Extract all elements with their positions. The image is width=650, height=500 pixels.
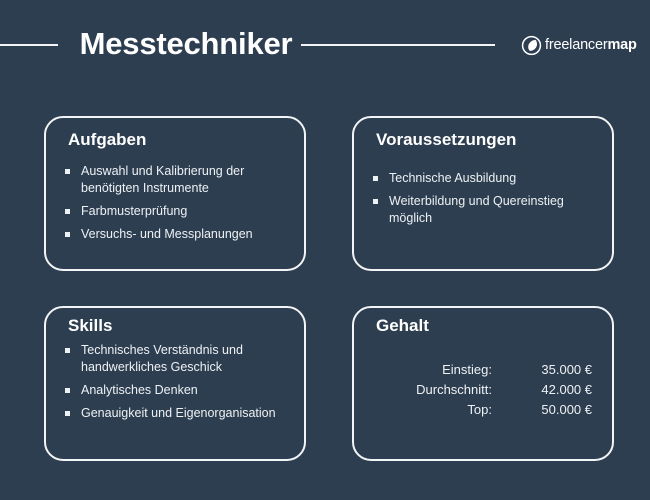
bullet-square-icon [65, 388, 70, 393]
list-item: Farbmusterprüfung [64, 203, 294, 220]
salary-value-einstieg: 35.000 € [492, 360, 592, 380]
freelancermap-logo[interactable]: freelancermap [521, 33, 637, 57]
table-row: Einstieg: 35.000 € [368, 360, 592, 380]
list-item: Genauigkeit und Eigenorganisation [64, 405, 294, 422]
page-header: Messtechniker freelancermap [0, 0, 650, 92]
list-item-label: Farbmusterprüfung [81, 204, 187, 218]
card-gehalt: Gehalt Einstieg: 35.000 € Durchschnitt: … [352, 306, 614, 461]
list-item-label: Technisches Verständnis und handwerklich… [81, 343, 243, 374]
salary-table: Einstieg: 35.000 € Durchschnitt: 42.000 … [368, 360, 592, 420]
card-title-aufgaben: Aufgaben [68, 130, 146, 150]
card-voraussetzungen: Voraussetzungen Technische Ausbildung We… [352, 116, 614, 271]
list-item-label: Genauigkeit und Eigenorganisation [81, 406, 276, 420]
card-aufgaben: Aufgaben Auswahl und Kalibrierung der be… [44, 116, 306, 271]
card-list-skills: Technisches Verständnis und handwerklich… [64, 342, 294, 428]
bullet-square-icon [373, 199, 378, 204]
bullet-square-icon [65, 411, 70, 416]
freelancermap-circle-icon [521, 35, 542, 56]
salary-label-top: Top: [368, 400, 492, 420]
bullet-square-icon [373, 176, 378, 181]
card-title-voraussetzungen: Voraussetzungen [376, 130, 516, 150]
salary-value-durchschnitt: 42.000 € [492, 380, 592, 400]
bullet-square-icon [65, 209, 70, 214]
list-item-label: Versuchs- und Messplanungen [81, 227, 253, 241]
bullet-square-icon [65, 169, 70, 174]
salary-value-top: 50.000 € [492, 400, 592, 420]
card-list-voraussetzungen: Technische Ausbildung Weiterbildung und … [372, 170, 602, 233]
page-title: Messtechniker [70, 22, 302, 66]
salary-label-einstieg: Einstieg: [368, 360, 492, 380]
bullet-square-icon [65, 232, 70, 237]
freelancermap-wordmark: freelancermap [545, 35, 637, 56]
bullet-square-icon [65, 348, 70, 353]
salary-label-durchschnitt: Durchschnitt: [368, 380, 492, 400]
list-item-label: Technische Ausbildung [389, 171, 516, 185]
list-item: Technische Ausbildung [372, 170, 602, 187]
list-item: Versuchs- und Messplanungen [64, 226, 294, 243]
list-item: Auswahl und Kalibrierung der benötigten … [64, 163, 294, 197]
logo-text-light: freelancer [545, 37, 607, 53]
card-title-gehalt: Gehalt [376, 316, 429, 336]
list-item: Weiterbildung und Quereinstieg möglich [372, 193, 602, 227]
card-title-skills: Skills [68, 316, 112, 336]
list-item-label: Weiterbildung und Quereinstieg möglich [389, 194, 564, 225]
table-row: Durchschnitt: 42.000 € [368, 380, 592, 400]
card-skills: Skills Technisches Verständnis und handw… [44, 306, 306, 461]
logo-text-bold: map [607, 37, 636, 53]
list-item: Analytisches Denken [64, 382, 294, 399]
table-row: Top: 50.000 € [368, 400, 592, 420]
list-item: Technisches Verständnis und handwerklich… [64, 342, 294, 376]
list-item-label: Auswahl und Kalibrierung der benötigten … [81, 164, 244, 195]
title-rule-right [301, 44, 495, 46]
card-list-aufgaben: Auswahl und Kalibrierung der benötigten … [64, 163, 294, 249]
title-rule-left [0, 44, 58, 46]
list-item-label: Analytisches Denken [81, 383, 198, 397]
